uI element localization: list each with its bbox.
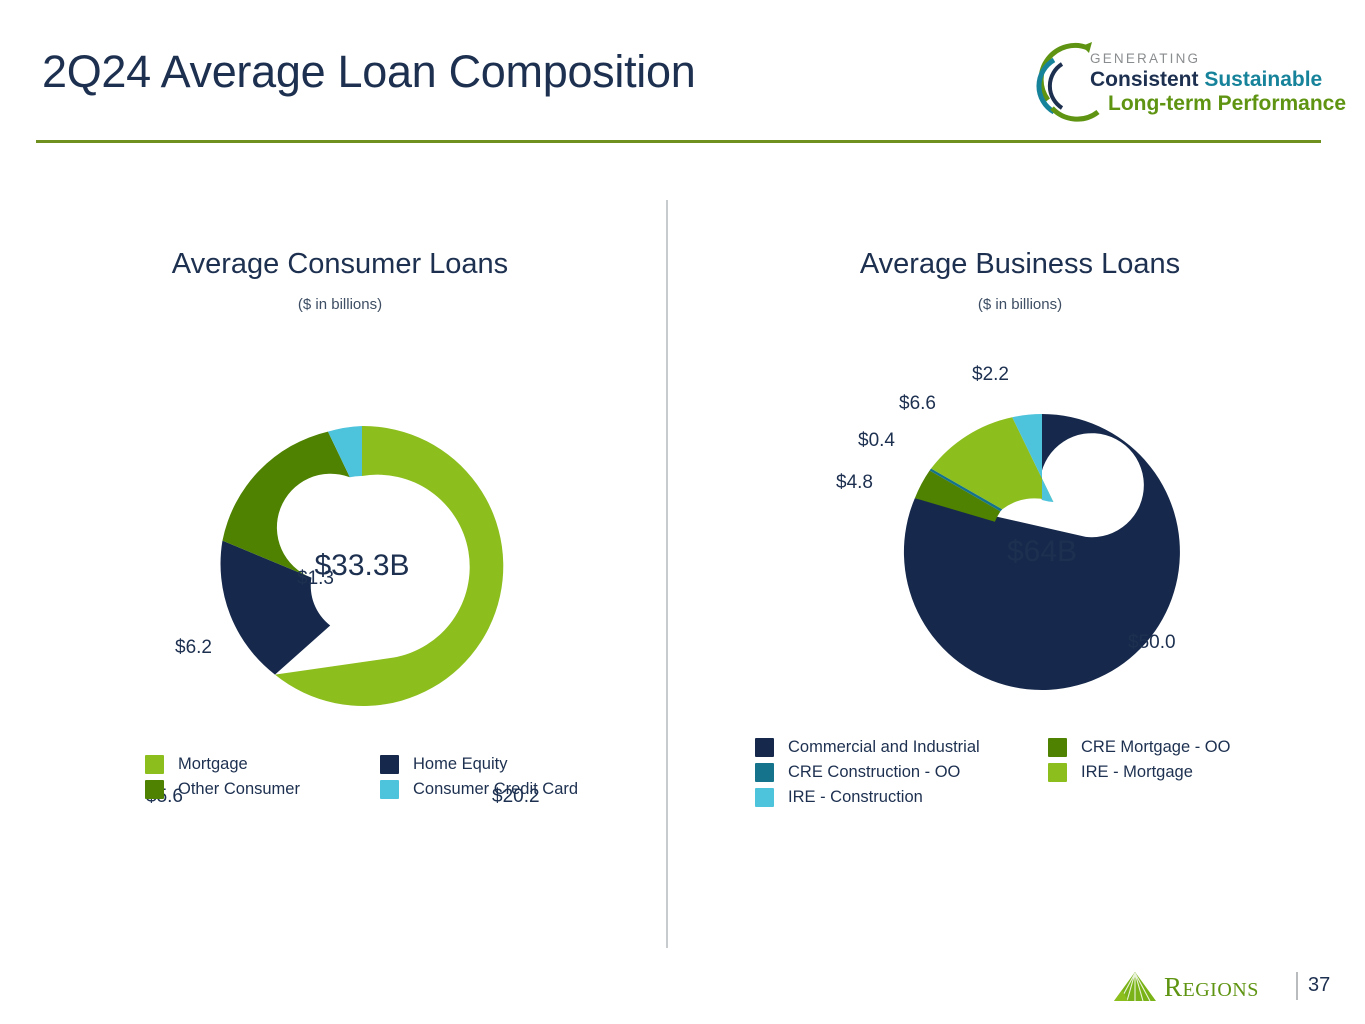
consumer-callout-credit-card: $1.3 bbox=[297, 568, 334, 590]
legend-label-other-consumer: Other Consumer bbox=[178, 780, 300, 799]
business-donut-chart: $64B bbox=[882, 392, 1202, 712]
legend-label-commercial-and-industrial: Commercial and Industrial bbox=[788, 738, 980, 757]
page-title: 2Q24 Average Loan Composition bbox=[42, 46, 695, 98]
legend-swatch-ire-construction bbox=[755, 788, 774, 807]
regions-wordmark-cap: R bbox=[1164, 972, 1183, 1002]
business-callout-ire-mortgage: $6.6 bbox=[899, 393, 936, 415]
legend-label-home-equity: Home Equity bbox=[413, 755, 507, 774]
consumer-chart-subtitle: ($ in billions) bbox=[20, 296, 660, 313]
business-chart-title: Average Business Loans bbox=[700, 248, 1340, 281]
tagline-word-sustainable: Sustainable bbox=[1204, 68, 1322, 91]
business-callout-ire-construction: $2.2 bbox=[972, 364, 1009, 386]
header-divider-rule bbox=[36, 140, 1321, 143]
consumer-donut-chart: $33.3B bbox=[202, 406, 522, 726]
regions-footer-logo: REGIONS bbox=[1112, 968, 1287, 1008]
tagline-word-consistent: Consistent bbox=[1090, 68, 1204, 91]
legend-label-mortgage: Mortgage bbox=[178, 755, 248, 774]
tagline-line-long-term-performance: Long-term Performance bbox=[1108, 92, 1346, 116]
panel-vertical-divider bbox=[666, 200, 668, 948]
page-number: 37 bbox=[1308, 974, 1330, 997]
consumer-chart-title: Average Consumer Loans bbox=[20, 248, 660, 281]
legend-swatch-cre-construction-oo bbox=[755, 763, 774, 782]
regions-wordmark: REGIONS bbox=[1164, 972, 1259, 1003]
legend-item-other-consumer[interactable]: Other Consumer bbox=[145, 780, 300, 799]
tagline-line-generating: GENERATING bbox=[1090, 51, 1200, 66]
panel-average-business-loans: Average Business Loans ($ in billions) $… bbox=[700, 200, 1340, 960]
legend-label-ire-mortgage: IRE - Mortgage bbox=[1081, 763, 1193, 782]
consumer-donut-svg bbox=[202, 406, 522, 726]
legend-label-ire-construction: IRE - Construction bbox=[788, 788, 923, 807]
business-callout-cre-construction-oo: $0.4 bbox=[858, 430, 895, 452]
legend-swatch-other-consumer bbox=[145, 780, 164, 799]
footer-separator bbox=[1296, 972, 1298, 1000]
tagline-line-consistent-sustainable: Consistent Sustainable bbox=[1090, 68, 1322, 92]
regions-pyramid-icon bbox=[1112, 970, 1158, 1004]
business-callout-commercial-and-industrial: $50.0 bbox=[1128, 632, 1176, 654]
legend-label-cre-construction-oo: CRE Construction - OO bbox=[788, 763, 960, 782]
legend-item-ire-mortgage[interactable]: IRE - Mortgage bbox=[1048, 763, 1230, 782]
legend-swatch-ire-mortgage bbox=[1048, 763, 1067, 782]
legend-item-mortgage[interactable]: Mortgage bbox=[145, 755, 300, 774]
legend-item-consumer-credit-card[interactable]: Consumer Credit Card bbox=[380, 780, 578, 799]
business-callout-cre-mortgage-oo: $4.8 bbox=[836, 472, 873, 494]
legend-swatch-mortgage bbox=[145, 755, 164, 774]
slide-canvas: 2Q24 Average Loan Composition GENERATING… bbox=[0, 0, 1365, 1024]
legend-item-ire-construction[interactable]: IRE - Construction bbox=[755, 788, 980, 807]
legend-swatch-commercial-and-industrial bbox=[755, 738, 774, 757]
business-donut-svg bbox=[882, 392, 1202, 712]
legend-item-home-equity[interactable]: Home Equity bbox=[380, 755, 578, 774]
legend-swatch-home-equity bbox=[380, 755, 399, 774]
legend-label-cre-mortgage-oo: CRE Mortgage - OO bbox=[1081, 738, 1230, 757]
legend-item-cre-construction-oo[interactable]: CRE Construction - OO bbox=[755, 763, 980, 782]
legend-swatch-cre-mortgage-oo bbox=[1048, 738, 1067, 757]
legend-label-consumer-credit-card: Consumer Credit Card bbox=[413, 780, 578, 799]
legend-item-commercial-and-industrial[interactable]: Commercial and Industrial bbox=[755, 738, 980, 757]
tagline-logo: GENERATING Consistent Sustainable Long-t… bbox=[1032, 30, 1332, 130]
legend-swatch-consumer-credit-card bbox=[380, 780, 399, 799]
consumer-callout-other-consumer: $6.2 bbox=[175, 637, 212, 659]
legend-item-cre-mortgage-oo[interactable]: CRE Mortgage - OO bbox=[1048, 738, 1230, 757]
regions-wordmark-rest: EGIONS bbox=[1183, 979, 1259, 1001]
business-chart-subtitle: ($ in billions) bbox=[700, 296, 1340, 313]
panel-average-consumer-loans: Average Consumer Loans ($ in billions) $… bbox=[20, 200, 660, 960]
